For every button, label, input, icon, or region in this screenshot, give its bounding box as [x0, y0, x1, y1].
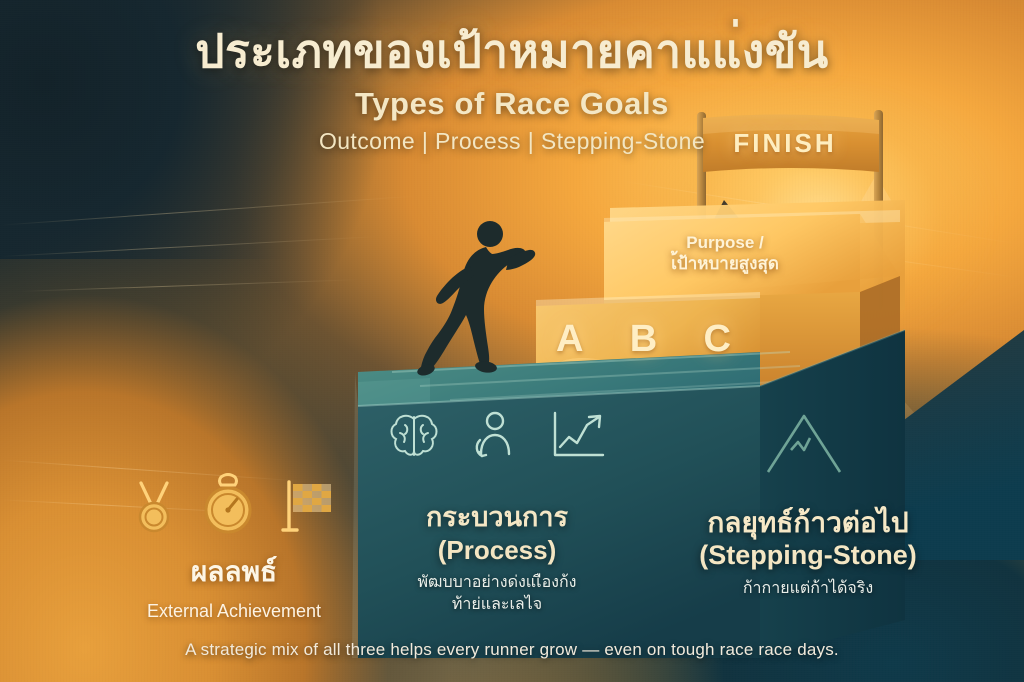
process-icon-row	[352, 400, 642, 470]
growth-chart-icon	[549, 409, 607, 461]
process-subtext: พัฒบบาอย่างด่งแเืองก้ง ท้าย่และเลไจ	[352, 572, 642, 615]
person-habit-icon	[471, 408, 519, 462]
page-subtitle: Outcome | Process | Stepping-Stone	[0, 128, 1024, 155]
step-letter-c: C	[704, 318, 731, 361]
stepping-stone-heading-english: (Stepping-Stone)	[648, 539, 968, 573]
process-heading-thai: กระบวนการ	[352, 502, 642, 534]
top-step-label-line1: Purpose /	[610, 232, 840, 253]
outcome-heading-english: External Achievement	[86, 601, 382, 622]
checkered-flag-icon	[279, 476, 337, 536]
mountain-icon	[760, 408, 856, 478]
top-step-label-line2: เ้ป้าหบายสูงสุด	[610, 253, 840, 275]
process-heading-english: (Process)	[352, 534, 642, 567]
middle-step-letters: A B C	[556, 318, 731, 361]
column-process: กระบวนการ (Process) พัฒบบาอย่างด่งแเืองก…	[352, 400, 642, 616]
step-letter-b: B	[630, 318, 657, 361]
medal-icon	[131, 478, 177, 536]
stepping-stone-heading-thai: กลยุทธ์ก้าวต่อไป	[648, 506, 968, 539]
footer-caption: A strategic mix of all three helps every…	[0, 640, 1024, 660]
column-outcome: ผลลพธ์ External Achievement	[86, 470, 382, 622]
top-step-label: Purpose / เ้ป้าหบายสูงสุด	[610, 232, 840, 275]
outcome-icon-row	[86, 470, 382, 536]
page-title-thai: ประเภทของเป้าหมายคาแแ่งขัน	[0, 26, 1024, 78]
outcome-heading-thai: ผลลพธ์	[86, 550, 382, 594]
stepping-stone-subtext: ก้ากายแต่ก้าได้จริง	[648, 578, 968, 600]
header-block: ประเภทของเป้าหมายคาแแ่งขัน Types of Race…	[0, 26, 1024, 155]
stopwatch-icon	[199, 472, 257, 536]
step-letter-a: A	[556, 318, 583, 361]
infographic-poster: ประเภทของเป้าหมายคาแแ่งขัน Types of Race…	[0, 0, 1024, 682]
stepping-stone-icon-row	[648, 406, 968, 480]
runner-silhouette-icon	[408, 214, 548, 384]
column-stepping-stone: กลยุทธ์ก้าวต่อไป (Stepping-Stone) ก้ากาย…	[648, 406, 968, 599]
process-subtext-line1: พัฒบบาอย่างด่งแเืองก้ง	[352, 572, 642, 594]
brain-icon	[387, 409, 441, 461]
process-subtext-line2: ท้าย่และเลไจ	[352, 594, 642, 616]
page-title-english: Types of Race Goals	[0, 86, 1024, 122]
